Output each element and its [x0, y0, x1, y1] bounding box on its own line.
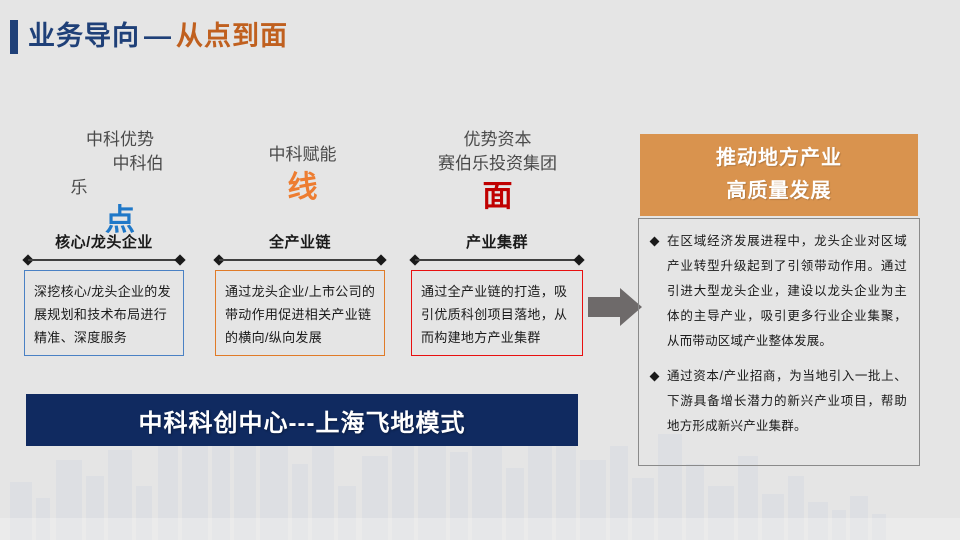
card-full-industry-chain: 全产业链 通过龙头企业/上市公司的带动作用促进相关产业链的横向/纵向发展 [215, 233, 385, 356]
panel-header-line-2: 高质量发展 [727, 175, 832, 208]
panel-header-line-1: 推动地方产业 [716, 142, 842, 175]
divider-line [415, 259, 579, 261]
card-2-divider [215, 255, 385, 264]
diamond-icon [375, 254, 386, 265]
column-1-label-line-3: 乐 [30, 176, 210, 200]
column-2-big-char: 线 [215, 169, 390, 207]
column-3-labels: 优势资本 赛伯乐投资集团 面 [400, 128, 595, 216]
card-3-divider [411, 255, 583, 264]
bottom-banner-text: 中科科创中心---上海飞地模式 [139, 403, 466, 438]
divider-line [219, 259, 381, 261]
column-3-label-line-2: 赛伯乐投资集团 [400, 152, 595, 176]
column-2-labels: 中科赋能 线 [215, 143, 390, 207]
card-industry-cluster: 产业集群 通过全产业链的打造，吸引优质科创项目落地，从而构建地方产业集群 [411, 233, 583, 356]
panel-header: 推动地方产业 高质量发展 [640, 134, 918, 216]
panel-bullet-2-text: 通过资本/产业招商，为当地引入一批上、下游具备增长潜力的新兴产业项目，帮助地方形… [667, 364, 907, 439]
card-1-body: 深挖核心/龙头企业的发展规划和技术布局进行精准、深度服务 [24, 270, 184, 356]
card-core-enterprise: 核心/龙头企业 深挖核心/龙头企业的发展规划和技术布局进行精准、深度服务 [24, 233, 184, 356]
column-3-big-char: 面 [400, 178, 595, 216]
column-1-labels: 中科优势 中科伯 乐 点 [30, 128, 210, 240]
column-1-label-line-1: 中科优势 [30, 128, 210, 152]
page-title-accent: 从点到面 [176, 21, 288, 51]
column-2-label-line-1: 中科赋能 [215, 143, 390, 167]
bullet-diamond-icon [650, 237, 660, 247]
bottom-banner: 中科科创中心---上海飞地模式 [26, 394, 578, 446]
card-2-title: 全产业链 [215, 233, 385, 253]
panel-bullet-1: 在区域经济发展进程中，龙头企业对区域产业转型升级起到了引领带动作用。通过引进大型… [647, 229, 907, 354]
card-3-title: 产业集群 [411, 233, 583, 253]
diamond-icon [174, 254, 185, 265]
title-accent-bar [10, 20, 18, 54]
panel-bullet-1-text: 在区域经济发展进程中，龙头企业对区域产业转型升级起到了引领带动作用。通过引进大型… [667, 229, 907, 354]
card-1-divider [24, 255, 184, 264]
slide-canvas: 业务导向—从点到面 中科优势 中科伯 乐 点 中科赋能 线 优势资本 赛伯乐投资… [0, 0, 960, 540]
page-title-dash: — [140, 21, 176, 51]
right-arrow-icon [588, 288, 642, 326]
column-3-label-line-1: 优势资本 [400, 128, 595, 152]
diamond-icon [573, 254, 584, 265]
panel-bullet-2: 通过资本/产业招商，为当地引入一批上、下游具备增长潜力的新兴产业项目，帮助地方形… [647, 364, 907, 439]
divider-line [28, 259, 180, 261]
card-2-body: 通过龙头企业/上市公司的带动作用促进相关产业链的横向/纵向发展 [215, 270, 385, 356]
panel-body: 在区域经济发展进程中，龙头企业对区域产业转型升级起到了引领带动作用。通过引进大型… [638, 218, 920, 466]
column-1-label-line-2: 中科伯 [30, 152, 210, 176]
page-title-main: 业务导向 [28, 21, 140, 51]
page-title: 业务导向—从点到面 [28, 17, 288, 55]
card-1-title: 核心/龙头企业 [24, 233, 184, 253]
card-3-body: 通过全产业链的打造，吸引优质科创项目落地，从而构建地方产业集群 [411, 270, 583, 356]
bullet-diamond-icon [650, 372, 660, 382]
